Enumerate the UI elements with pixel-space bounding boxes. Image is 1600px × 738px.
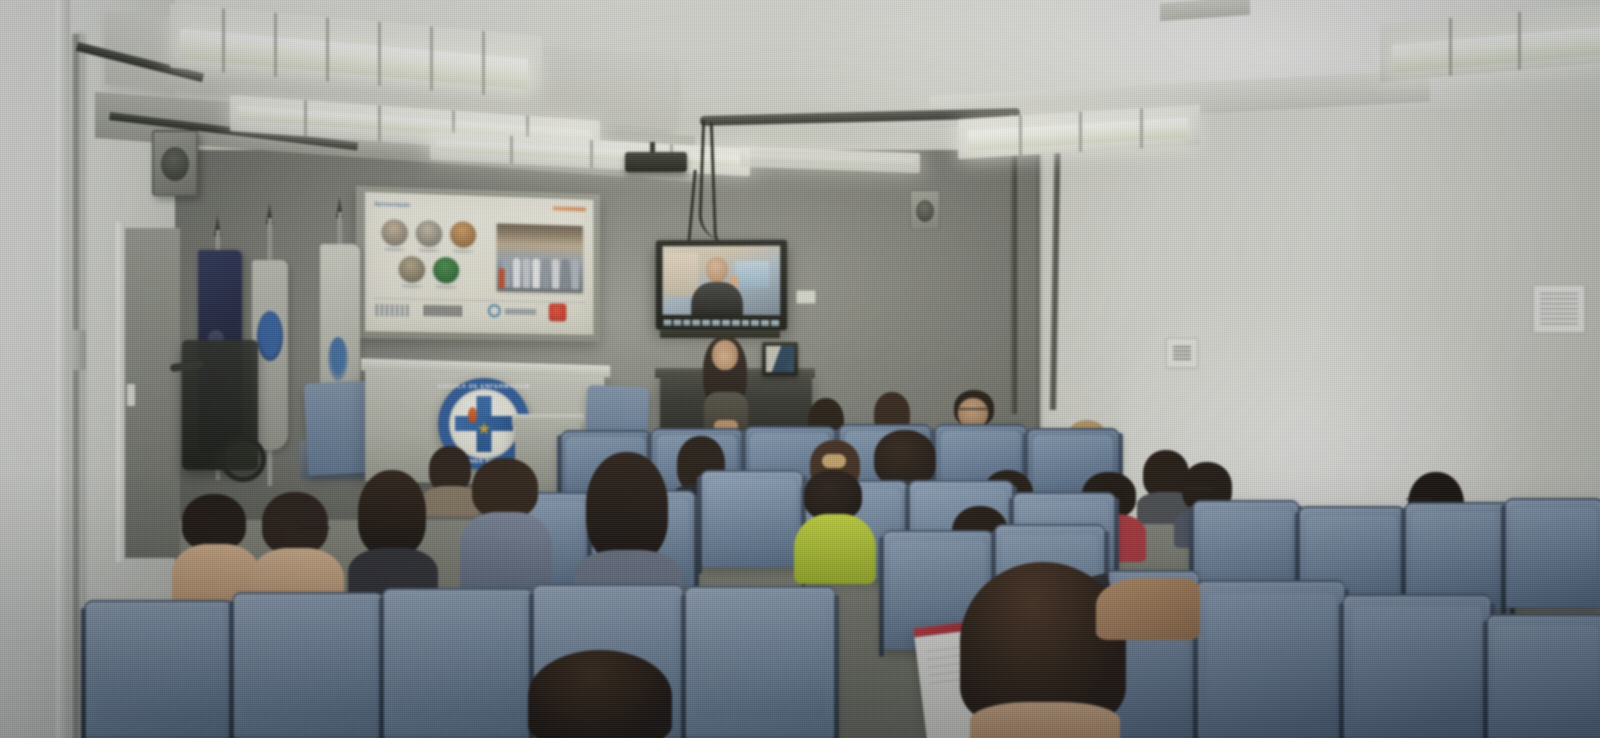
glasses-icon <box>959 408 987 414</box>
attendee <box>352 470 432 600</box>
projector-icon <box>625 152 687 172</box>
attendee-yellow-top <box>798 470 868 580</box>
slide-avatar-caption: Participante 5 <box>425 285 467 290</box>
emblem-text-top: ESCOLA DE ENFERMAGEM <box>438 384 530 390</box>
attendee-right-arm <box>1096 556 1206 640</box>
slide-avatar <box>450 221 476 248</box>
chair[interactable] <box>232 592 384 738</box>
tv-screen <box>663 246 781 315</box>
glasses-icon <box>1184 488 1214 494</box>
hair-clip-icon <box>822 454 846 468</box>
speaker-icon <box>152 130 198 196</box>
speaker-icon <box>910 190 940 230</box>
conduit-clamp <box>69 330 86 370</box>
attendee-foreground-center <box>520 650 680 738</box>
projection-screen: Apresentação Participante 1 Participante… <box>365 192 593 335</box>
slide-title: Apresentação <box>374 202 410 209</box>
wall-pipe-vertical <box>1010 114 1019 414</box>
left-pillar <box>56 0 70 738</box>
slide-avatar <box>381 219 407 246</box>
front-chair[interactable] <box>304 380 373 475</box>
slide-logo <box>375 304 410 317</box>
tv-control-strip <box>664 318 780 327</box>
wall-notice <box>1533 285 1585 333</box>
chair[interactable] <box>1486 614 1600 738</box>
door-push-plate[interactable] <box>127 384 135 406</box>
slide-group-photo <box>497 223 583 293</box>
glasses-icon <box>300 526 330 536</box>
chair[interactable] <box>1342 594 1492 738</box>
tv-monitor[interactable] <box>656 240 788 331</box>
slide-logo-circular-icon <box>488 304 501 317</box>
slide-avatar <box>416 220 442 247</box>
slide-logo-text <box>505 308 536 315</box>
attendee <box>580 452 674 602</box>
wheelchair <box>182 340 258 470</box>
slide-divider <box>373 298 585 303</box>
slide-avatar <box>399 256 425 283</box>
wall-outlet[interactable] <box>796 290 816 304</box>
slide-avatar <box>433 257 459 284</box>
chair[interactable] <box>700 470 804 568</box>
slide-accent-bar <box>553 206 586 211</box>
chair[interactable] <box>382 588 534 738</box>
door-jamb <box>116 222 125 562</box>
star-icon: ★ <box>477 422 491 438</box>
attendee <box>466 458 544 588</box>
wall-notice <box>1166 338 1198 368</box>
chair[interactable] <box>1504 498 1600 608</box>
small-monitor[interactable] <box>762 342 798 376</box>
auditorium-photo: Apresentação Participante 1 Participante… <box>0 0 1600 738</box>
chair[interactable] <box>684 586 836 738</box>
slide-logo-barcode-icon <box>424 305 462 317</box>
slide-avatar-caption: Participante 3 <box>442 249 484 254</box>
slide-logo-red-square-icon <box>549 303 566 321</box>
chair[interactable] <box>84 600 234 738</box>
chair[interactable] <box>1196 580 1346 738</box>
